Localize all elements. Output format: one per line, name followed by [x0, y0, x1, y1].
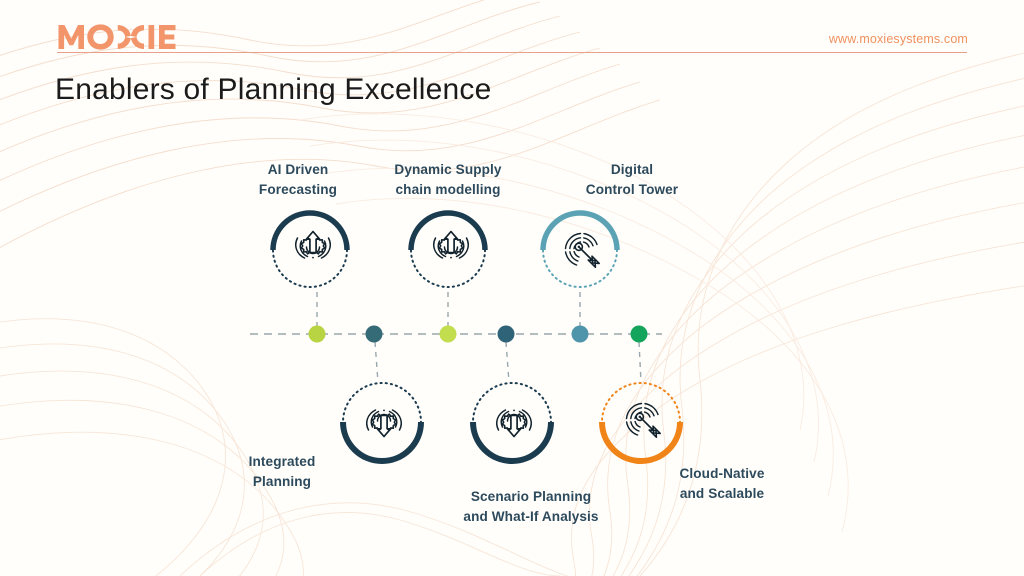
node-label-scenario-planning-what-if: Scenario Planning and What-If Analysis — [427, 487, 635, 526]
connector-scenario-planning-what-if — [506, 342, 509, 382]
target-arrow-icon — [627, 404, 661, 438]
node-integrated-planning[interactable] — [343, 383, 421, 461]
connector-cloud-native-scalable — [639, 342, 641, 382]
page-title: Enablers of Planning Excellence — [55, 73, 491, 107]
node-label-dynamic-supply-chain-modelling: Dynamic Supply chain modelling — [372, 160, 524, 199]
node-arc-scenario-planning-what-if — [473, 422, 551, 461]
node-dynamic-supply-chain-modelling[interactable] — [411, 213, 485, 287]
node-label-digital-control-tower: Digital Control Tower — [556, 160, 708, 199]
timeline-dot-3[interactable] — [440, 326, 457, 343]
node-label-cloud-native-scalable: Cloud-Native and Scalable — [648, 464, 796, 503]
connector-integrated-planning — [375, 342, 378, 382]
node-digital-control-tower[interactable] — [543, 213, 617, 287]
target-arrow-icon — [566, 234, 600, 268]
node-arc-integrated-planning — [343, 422, 421, 461]
gear-arrow-down-icon — [497, 410, 532, 437]
moxie-logo[interactable] — [57, 22, 177, 52]
node-label-integrated-planning: Integrated Planning — [216, 452, 348, 491]
gear-arrow-up-icon — [296, 232, 331, 259]
node-ai-driven-forecasting[interactable] — [273, 213, 347, 287]
node-label-ai-driven-forecasting: AI Driven Forecasting — [232, 160, 364, 199]
node-scenario-planning-what-if[interactable] — [473, 383, 551, 461]
timeline-dot-2[interactable] — [366, 326, 383, 343]
node-cloud-native-scalable[interactable] — [602, 383, 680, 461]
gear-arrow-up-icon — [434, 232, 469, 259]
timeline-dot-6[interactable] — [631, 326, 648, 343]
header-divider — [57, 52, 967, 53]
node-arc-digital-control-tower — [543, 213, 617, 250]
timeline-dot-5[interactable] — [572, 326, 589, 343]
node-arc-cloud-native-scalable — [602, 422, 680, 461]
timeline-dot-1[interactable] — [309, 326, 326, 343]
site-url[interactable]: www.moxiesystems.com — [829, 32, 968, 46]
gear-arrow-down-icon — [367, 410, 402, 437]
connector-lines — [317, 292, 641, 382]
timeline-dot-4[interactable] — [498, 326, 515, 343]
slide-canvas: www.moxiesystems.com Enablers of Plannin… — [0, 0, 1024, 576]
